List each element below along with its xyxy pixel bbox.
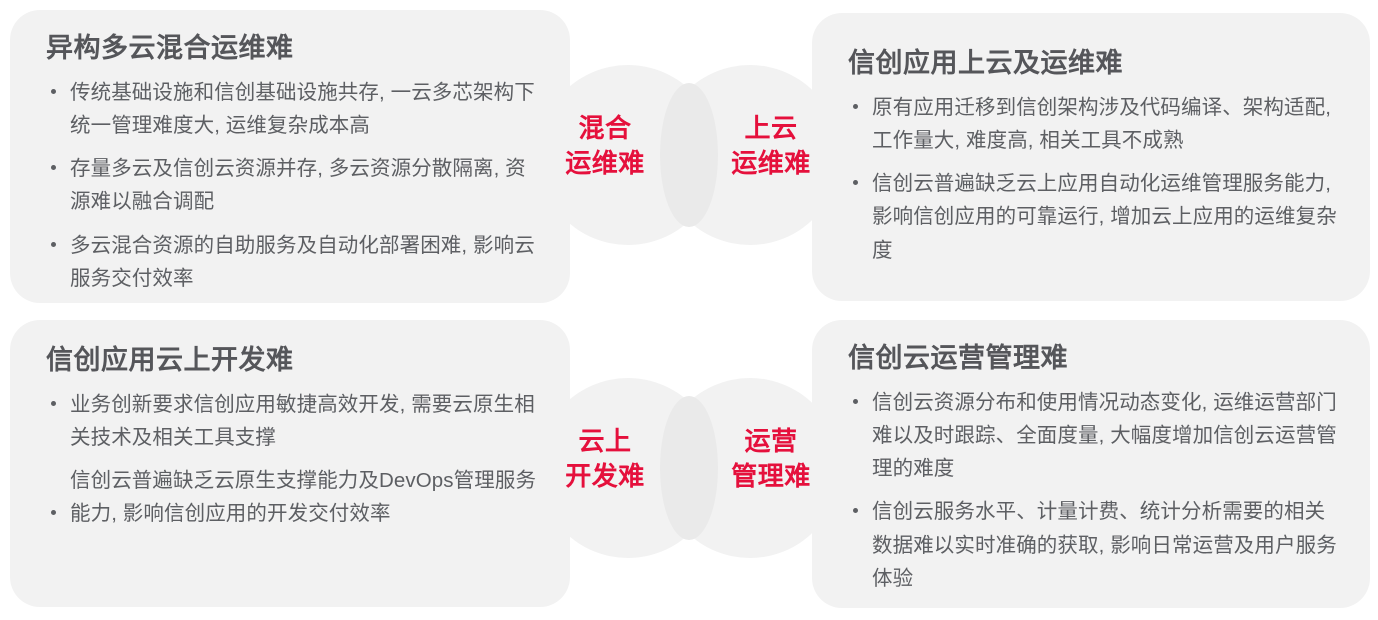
bullet-list: 业务创新要求信创应用敏捷高效开发, 需要云原生相关技术及相关工具支撑 信创云普遍… xyxy=(46,384,542,531)
card-content: 信创云运营管理难 信创云资源分布和使用情况动态变化, 运维运营部门难以及时跟踪、… xyxy=(848,320,1342,608)
list-item: 信创云普遍缺乏云上应用自动化运维管理服务能力, 影响信创应用的可靠运行, 增加云… xyxy=(848,167,1342,267)
venn-label-migration-ops: 上云 运维难 xyxy=(696,111,846,181)
card-title: 异构多云混合运维难 xyxy=(46,32,542,66)
bullet-list: 信创云资源分布和使用情况动态变化, 运维运营部门难以及时跟踪、全面度量, 大幅度… xyxy=(848,382,1342,595)
bullet-dot-icon xyxy=(853,508,858,513)
list-item: 存量多云及信创云资源并存, 多云资源分散隔离, 资源难以融合调配 xyxy=(46,152,542,218)
list-item-text: 传统基础设施和信创基础设施共存, 一云多芯架构下统一管理难度大, 运维复杂成本高 xyxy=(70,81,535,137)
card-content: 信创应用上云及运维难 原有应用迁移到信创架构涉及代码编译、架构适配, 工作量大,… xyxy=(848,13,1342,301)
card-app-migration-ops: 信创应用上云及运维难 原有应用迁移到信创架构涉及代码编译、架构适配, 工作量大,… xyxy=(812,13,1370,301)
list-item-text: 原有应用迁移到信创架构涉及代码编译、架构适配, 工作量大, 难度高, 相关工具不… xyxy=(872,96,1331,152)
card-title: 信创云运营管理难 xyxy=(848,342,1342,376)
list-item: 信创云普遍缺乏云原生支撑能力及DevOps管理服务能力, 影响信创应用的开发交付… xyxy=(46,464,542,530)
list-item-text: 信创云资源分布和使用情况动态变化, 运维运营部门难以及时跟踪、全面度量, 大幅度… xyxy=(872,391,1337,480)
bullet-list: 传统基础设施和信创基础设施共存, 一云多芯架构下统一管理难度大, 运维复杂成本高… xyxy=(46,72,542,295)
card-cloud-native-dev: 信创应用云上开发难 业务创新要求信创应用敏捷高效开发, 需要云原生相关技术及相关… xyxy=(10,320,570,607)
bullet-dot-icon xyxy=(51,89,56,94)
venn-diagram-top: 混合 运维难 上云 运维难 xyxy=(538,65,838,265)
bullet-list: 原有应用迁移到信创架构涉及代码编译、架构适配, 工作量大, 难度高, 相关工具不… xyxy=(848,87,1342,267)
list-item-text: 信创云普遍缺乏云原生支撑能力及DevOps管理服务能力, 影响信创应用的开发交付… xyxy=(70,469,536,525)
card-heterogeneous-multicloud-ops: 异构多云混合运维难 传统基础设施和信创基础设施共存, 一云多芯架构下统一管理难度… xyxy=(10,10,570,303)
bullet-dot-icon xyxy=(51,401,56,406)
venn-label-hybrid-ops: 混合 运维难 xyxy=(530,111,680,181)
bullet-dot-icon xyxy=(853,104,858,109)
infographic-canvas: 异构多云混合运维难 传统基础设施和信创基础设施共存, 一云多芯架构下统一管理难度… xyxy=(0,0,1378,620)
card-content: 信创应用云上开发难 业务创新要求信创应用敏捷高效开发, 需要云原生相关技术及相关… xyxy=(46,320,542,607)
list-item: 信创云服务水平、计量计费、统计分析需要的相关数据难以实时准确的获取, 影响日常运… xyxy=(848,495,1342,595)
list-item-text: 存量多云及信创云资源并存, 多云资源分散隔离, 资源难以融合调配 xyxy=(70,157,526,213)
card-title: 信创应用云上开发难 xyxy=(46,344,542,378)
list-item-text: 信创云普遍缺乏云上应用自动化运维管理服务能力, 影响信创应用的可靠运行, 增加云… xyxy=(872,172,1337,261)
list-item-text: 业务创新要求信创应用敏捷高效开发, 需要云原生相关技术及相关工具支撑 xyxy=(70,393,535,449)
venn-label-cloud-dev: 云上 开发难 xyxy=(530,424,680,494)
list-item: 原有应用迁移到信创架构涉及代码编译、架构适配, 工作量大, 难度高, 相关工具不… xyxy=(848,91,1342,157)
list-item: 传统基础设施和信创基础设施共存, 一云多芯架构下统一管理难度大, 运维复杂成本高 xyxy=(46,76,542,142)
bullet-dot-icon xyxy=(51,165,56,170)
bullet-dot-icon xyxy=(51,510,56,515)
list-item: 信创云资源分布和使用情况动态变化, 运维运营部门难以及时跟踪、全面度量, 大幅度… xyxy=(848,386,1342,486)
venn-label-operations-mgmt: 运营 管理难 xyxy=(696,424,846,494)
venn-diagram-bottom: 云上 开发难 运营 管理难 xyxy=(538,378,838,578)
list-item-text: 信创云服务水平、计量计费、统计分析需要的相关数据难以实时准确的获取, 影响日常运… xyxy=(872,500,1337,589)
list-item-text: 多云混合资源的自助服务及自动化部署困难, 影响云服务交付效率 xyxy=(70,234,535,290)
bullet-dot-icon xyxy=(51,242,56,247)
card-content: 异构多云混合运维难 传统基础设施和信创基础设施共存, 一云多芯架构下统一管理难度… xyxy=(46,10,542,303)
list-item: 业务创新要求信创应用敏捷高效开发, 需要云原生相关技术及相关工具支撑 xyxy=(46,388,542,454)
bullet-dot-icon xyxy=(853,180,858,185)
card-cloud-operations-management: 信创云运营管理难 信创云资源分布和使用情况动态变化, 运维运营部门难以及时跟踪、… xyxy=(812,320,1370,608)
list-item: 多云混合资源的自助服务及自动化部署困难, 影响云服务交付效率 xyxy=(46,229,542,295)
bullet-dot-icon xyxy=(853,399,858,404)
card-title: 信创应用上云及运维难 xyxy=(848,47,1342,81)
